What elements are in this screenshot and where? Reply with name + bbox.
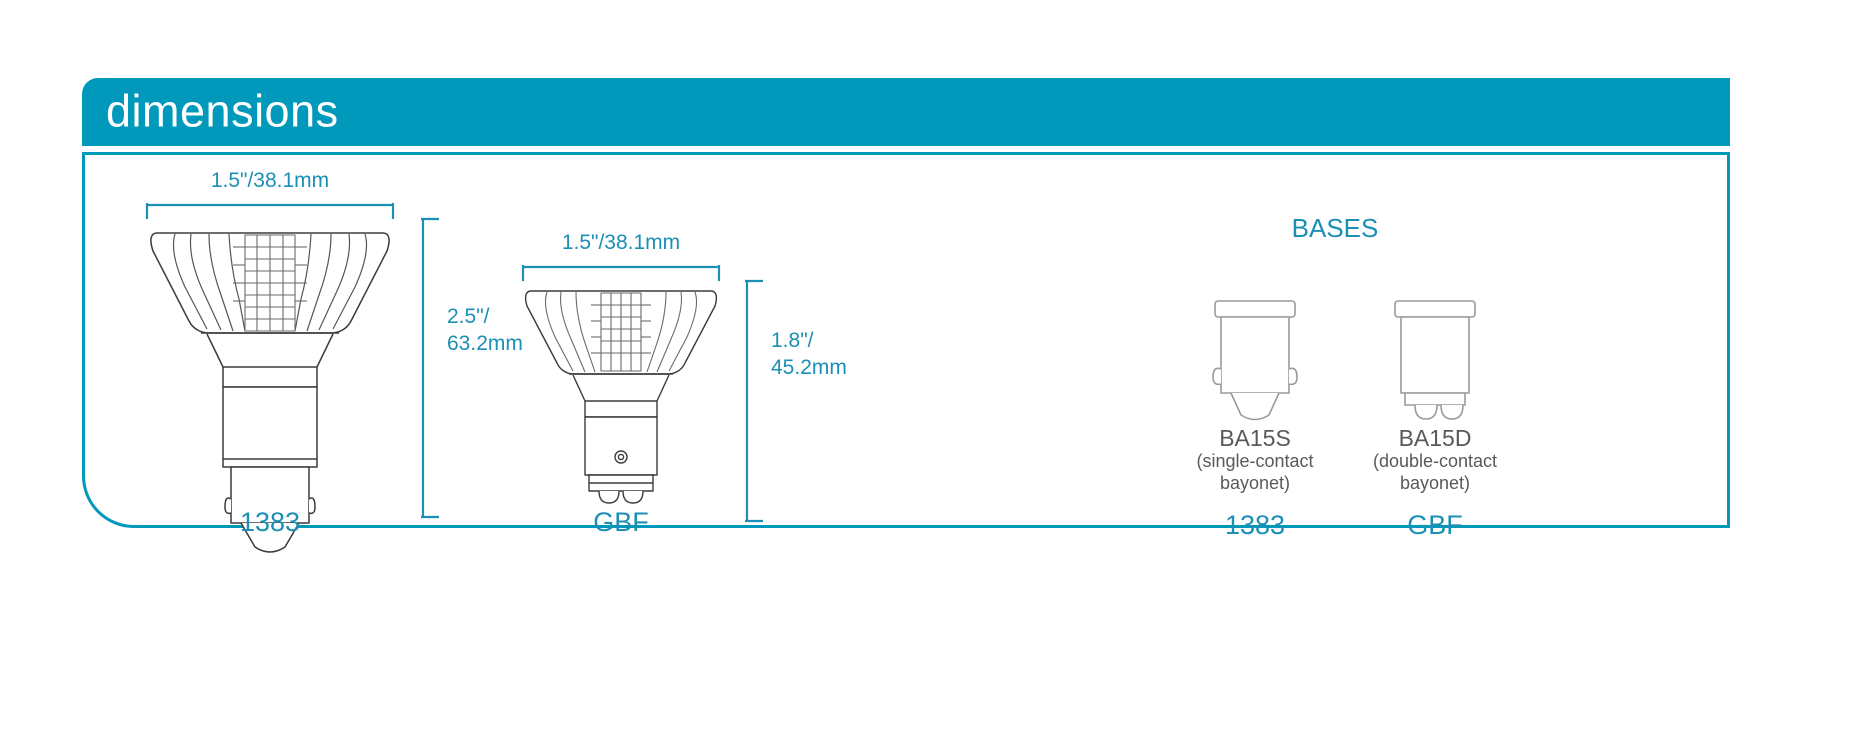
panel-header: dimensions xyxy=(82,78,1730,146)
height-dimension-label-gbf: 1.8"/ 45.2mm xyxy=(771,327,901,382)
base-block-ba15d: BA15D (double-contact bayonet) GBF xyxy=(1345,295,1525,541)
bulb-drawing-1383 xyxy=(145,217,395,507)
width-dimension-label-gbf: 1.5"/38.1mm xyxy=(521,229,721,256)
base-name-ba15s: BA15S xyxy=(1165,425,1345,451)
base-name-ba15d: BA15D xyxy=(1345,425,1525,451)
bases-heading: BASES xyxy=(1235,213,1435,244)
dimensions-panel: dimensions 1.5"/38.1mm xyxy=(82,78,1730,528)
base-description-ba15s: (single-contact bayonet) xyxy=(1165,451,1345,493)
width-dimension-label-1383: 1.5"/38.1mm xyxy=(145,167,395,194)
base-block-ba15s: BA15S (single-contact bayonet) 1383 xyxy=(1165,295,1345,541)
figure-bulb-1383: 1.5"/38.1mm xyxy=(145,155,485,525)
panel-body: 1.5"/38.1mm xyxy=(82,152,1730,528)
figure-bulb-gbf: 1.5"/38.1mm xyxy=(521,217,851,527)
page-title: dimensions xyxy=(106,89,339,134)
base-drawing-ba15d xyxy=(1345,295,1525,425)
bases-section: BASES BA15S (single-contact bayonet) 138… xyxy=(1105,155,1665,531)
height-dimension-bracket-gbf xyxy=(743,279,765,523)
figure-caption-gbf: GBF xyxy=(521,507,721,538)
height-dimension-bracket-1383 xyxy=(419,217,441,519)
base-description-ba15d: (double-contact bayonet) xyxy=(1345,451,1525,493)
base-drawing-ba15s xyxy=(1165,295,1345,425)
bulb-drawing-gbf xyxy=(521,279,721,509)
base-model-ba15s: 1383 xyxy=(1165,510,1345,541)
base-model-ba15d: GBF xyxy=(1345,510,1525,541)
figure-caption-1383: 1383 xyxy=(145,507,395,538)
